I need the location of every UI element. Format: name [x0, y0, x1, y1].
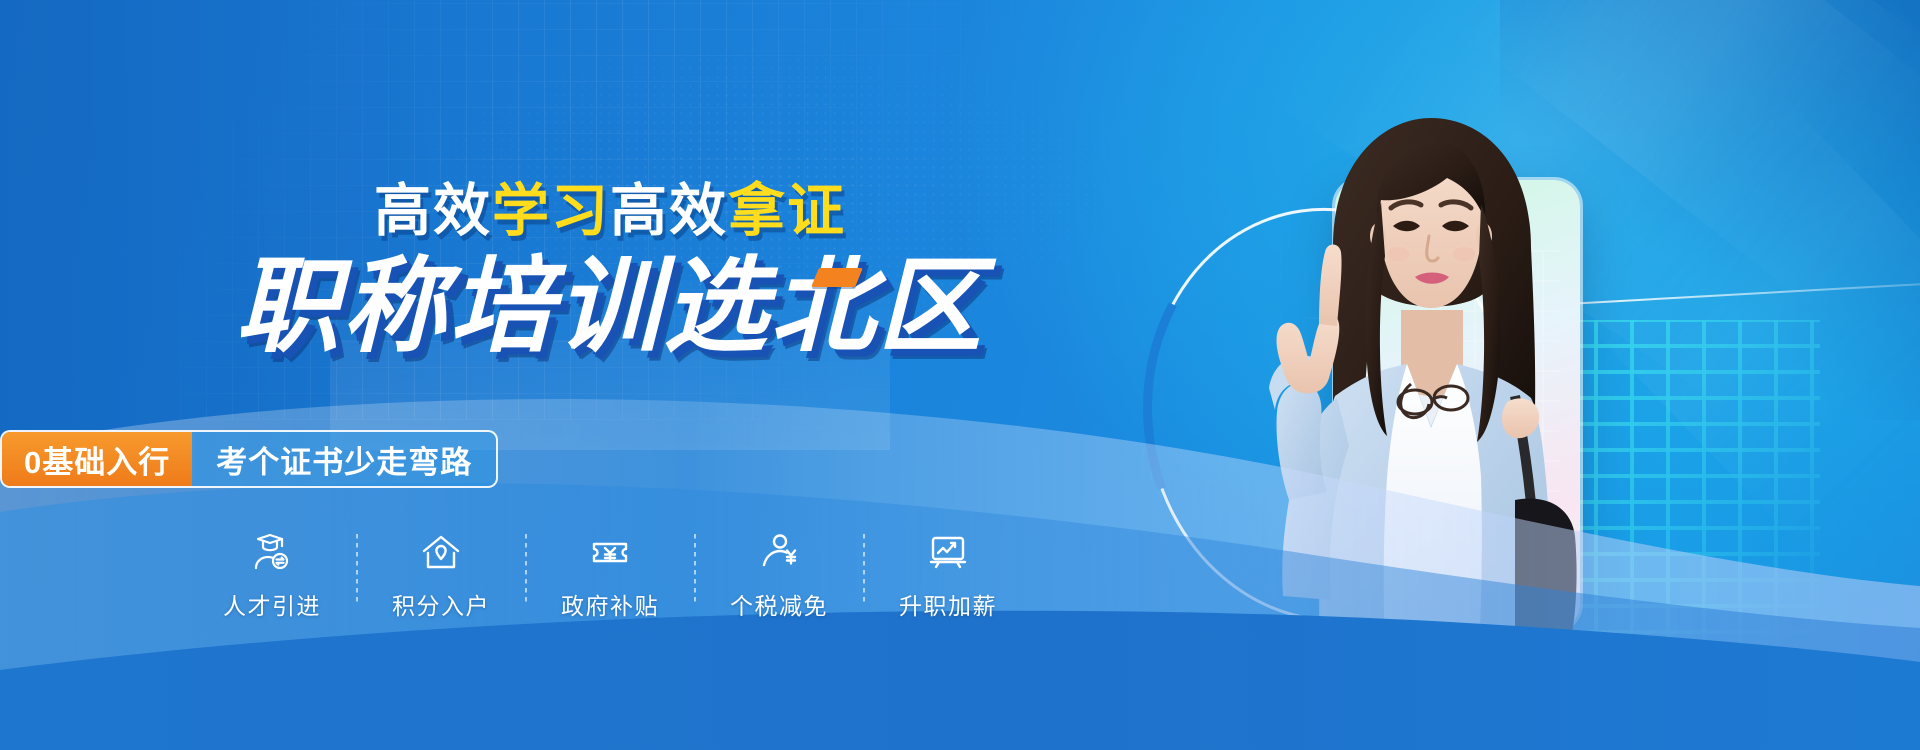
graduate-person-icon: [251, 530, 293, 574]
feature-divider: [356, 534, 358, 602]
badge-right-label: 考个证书少走弯路: [192, 432, 496, 486]
feature-item-tax-relief[interactable]: 个税减免: [712, 530, 847, 621]
ticket-yuan-icon: [589, 530, 631, 574]
badge-left-label: 0基础入行: [2, 432, 192, 486]
feature-divider: [525, 534, 527, 602]
feature-divider: [694, 534, 696, 602]
feature-item-talent[interactable]: 人才引进: [205, 530, 340, 621]
copy-block: 高效学习高效拿证 职称培训选北区 0基础入行 考个证书少走弯路: [0, 0, 1220, 750]
chart-board-icon: [927, 530, 969, 574]
house-pin-icon: [420, 530, 462, 574]
subheadline-seg-3: 高效: [610, 179, 728, 243]
subheadline-seg-2: 学习: [492, 179, 610, 243]
subheadline: 高效学习高效拿证: [0, 183, 1220, 240]
tagline-badge: 0基础入行 考个证书少走弯路: [0, 430, 498, 488]
feature-label: 积分入户: [392, 587, 490, 621]
feature-list: 人才引进 积分入户: [0, 530, 1220, 621]
feature-item-subsidy[interactable]: 政府补贴: [543, 530, 678, 621]
subheadline-seg-1: 高效: [374, 179, 492, 243]
feature-label: 人才引进: [223, 587, 321, 621]
feature-label: 政府补贴: [561, 587, 659, 621]
subheadline-seg-4: 拿证: [728, 179, 846, 243]
orange-accent-mark: [811, 268, 863, 287]
feature-label: 升职加薪: [899, 587, 997, 621]
feature-item-residency[interactable]: 积分入户: [374, 530, 509, 621]
feature-label: 个税减免: [730, 587, 828, 621]
headline: 职称培训选北区: [0, 255, 1220, 359]
person-yuan-icon: [758, 530, 800, 574]
feature-item-promotion[interactable]: 升职加薪: [881, 530, 1016, 621]
feature-divider: [863, 534, 865, 602]
promo-banner: 高效学习高效拿证 职称培训选北区 0基础入行 考个证书少走弯路: [0, 0, 1920, 750]
